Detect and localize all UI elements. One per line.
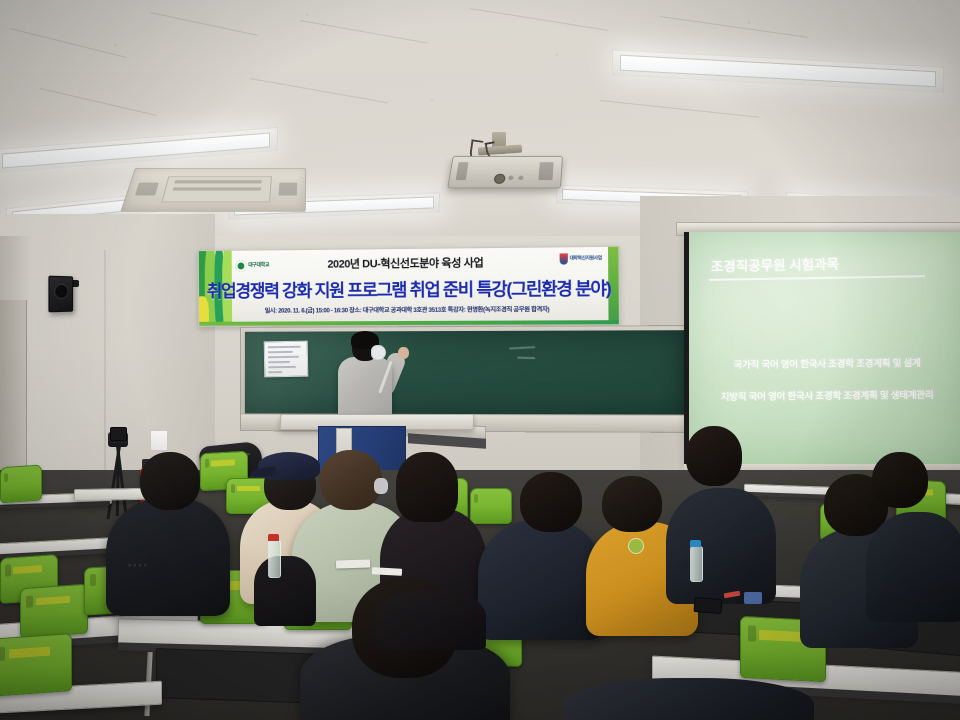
smartphone[interactable]: [694, 597, 723, 614]
wall-speaker: [48, 276, 73, 313]
slide-line-local: 지방직 국어 영어 한국사 조경학 조경계획 및 생태계관리: [689, 387, 960, 404]
face-mask: [374, 478, 388, 494]
notice-text-line: [268, 366, 296, 368]
bottle-cap: [690, 540, 701, 547]
paper-sheet: [336, 559, 370, 568]
notice-paper: [264, 341, 309, 378]
banner-details: 일시: 2020. 11. 6.(금) 15:00 - 16:30 장소: 대구…: [199, 304, 619, 315]
bottle-cap: [268, 534, 279, 541]
lecturer-face-mask: [371, 345, 386, 360]
slide-title-underline: [709, 275, 925, 280]
chair[interactable]: [0, 633, 70, 695]
chair[interactable]: [470, 488, 510, 522]
notice-text-line: [268, 351, 293, 353]
video-camera: [110, 427, 127, 441]
chalkboard: [245, 330, 685, 415]
lecturer-body: [338, 357, 392, 419]
slide-title: 조경직공무원 시험과목: [711, 253, 839, 276]
lecturer-hand: [398, 347, 409, 359]
paper-sheet: [372, 567, 402, 576]
water-bottle: [690, 546, 703, 582]
desk-item: [744, 592, 762, 604]
lecture-hall-photo: 대구대학교 대학혁신지원사업 2020년 DU-혁신선도분야 육성 사업 취업경…: [0, 0, 960, 720]
ceiling-air-conditioner: [120, 168, 306, 212]
chair[interactable]: [20, 584, 86, 637]
wall-sign: [150, 430, 168, 451]
notice-text-line: [268, 361, 290, 363]
notice-text-line: [268, 371, 282, 373]
speaker-cone: [54, 284, 68, 299]
shoulder-badge: [628, 538, 644, 554]
notice-text-line: [268, 356, 299, 359]
projector: [447, 156, 563, 188]
slide-line-national: 국가직 국어 영어 한국사 조경학 조경계획 및 설계: [689, 355, 960, 372]
chair[interactable]: [0, 465, 40, 502]
water-bottle: [268, 540, 281, 578]
banner-title: 취업경쟁력 강화 지원 프로그램 취업 준비 특강(그린환경 분야): [199, 275, 619, 303]
event-banner: 대구대학교 대학혁신지원사업 2020년 DU-혁신선도분야 육성 사업 취업경…: [198, 246, 620, 327]
notice-text-line: [268, 346, 301, 349]
banner-program-line: 2020년 DU-혁신선도분야 육성 사업: [199, 253, 619, 273]
